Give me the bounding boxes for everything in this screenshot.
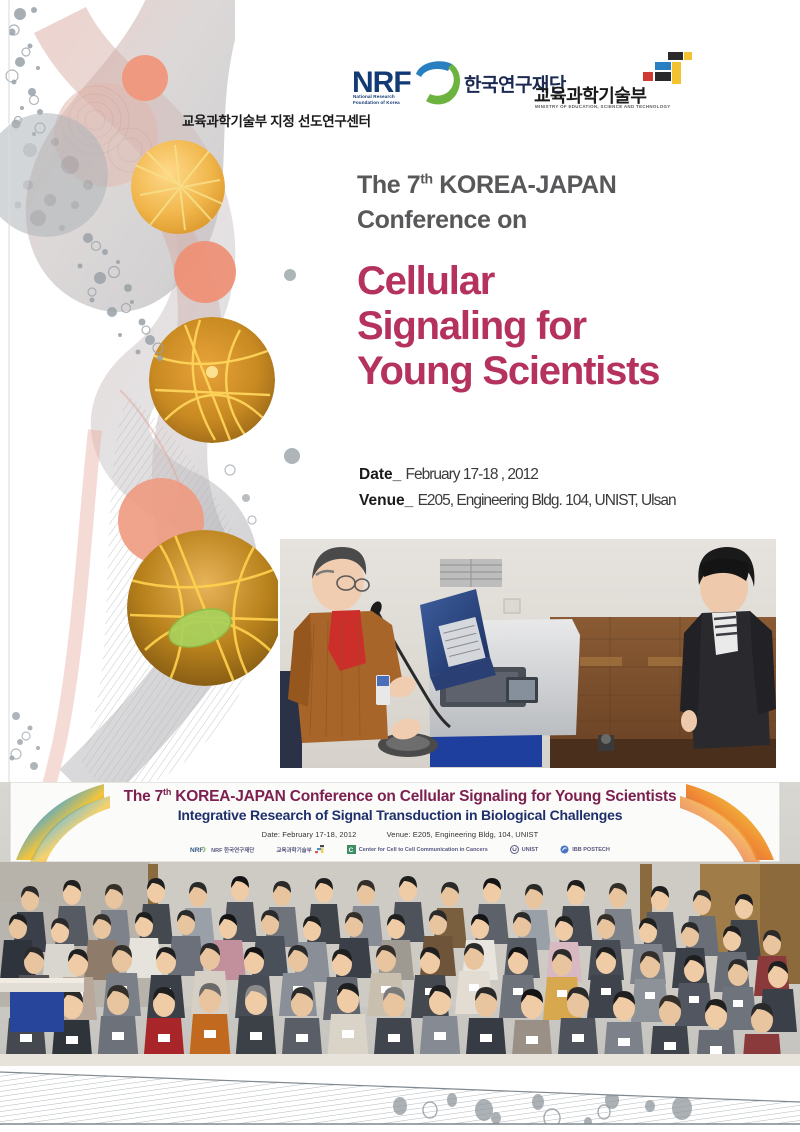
title-main-line2: Signaling for — [357, 304, 757, 349]
title-prefix-line1: The 7th KOREA-JAPAN — [357, 168, 757, 203]
group-conference-photo — [0, 782, 800, 1072]
title-main-line1: Cellular — [357, 259, 757, 304]
mest-blocks-icon — [642, 52, 694, 86]
coral-circle-top — [122, 55, 168, 101]
date-row: Date_ February 17-18 , 2012 — [359, 462, 676, 488]
venue-label: Venue_ — [359, 492, 413, 509]
title-prefix-line2: Conference on — [357, 203, 757, 238]
title-main: Cellular Signaling for Young Scientists — [357, 259, 757, 393]
venue-value: E205, Engineering Bldg. 104, UNIST, Ulsa… — [418, 492, 676, 509]
date-value: February 17-18 , 2012 — [406, 466, 538, 483]
sponsor-logo-row: NRF National Research Foundation of Kore… — [352, 52, 752, 134]
poster-title-block: The 7th KOREA-JAPAN Conference on Cellul… — [357, 168, 757, 393]
podium-speaker-photo — [278, 537, 778, 770]
gold-circle-neurons-3 — [127, 530, 285, 686]
gold-circle-neurons-1 — [131, 140, 225, 234]
conference-poster: NRF National Research Foundation of Kore… — [0, 0, 800, 1132]
nrf-swoosh-icon — [410, 58, 466, 108]
title-main-line3: Young Scientists — [357, 349, 757, 394]
title-prefix: The 7th KOREA-JAPAN Conference on — [357, 168, 757, 237]
gold-circle-neurons-2 — [149, 317, 275, 443]
venue-row: Venue_ E205, Engineering Bldg. 104, UNIS… — [359, 488, 676, 514]
footer-decoration — [0, 1066, 800, 1132]
mest-english-name: MINISTRY OF EDUCATION, SCIENCE AND TECHN… — [535, 104, 671, 109]
group-photo-section: The 7th KOREA-JAPAN Conference on Cellul… — [0, 782, 800, 1072]
nrf-subtitle: National Research Foundation of Korea — [353, 94, 400, 106]
center-designation-text: 교육과학기술부 지정 선도연구센터 — [182, 110, 371, 130]
date-label: Date_ — [359, 466, 401, 483]
event-details: Date_ February 17-18 , 2012 Venue_ E205,… — [359, 462, 676, 514]
